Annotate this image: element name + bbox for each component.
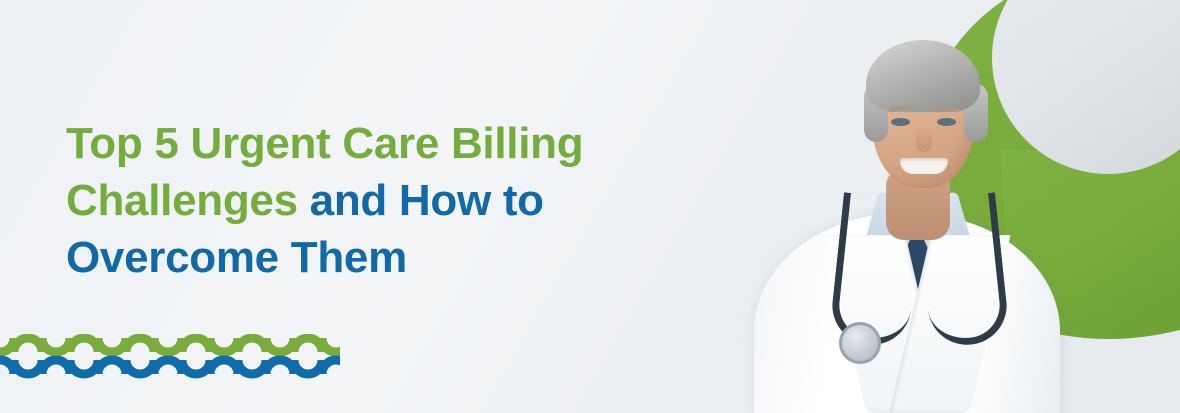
scallop-arc-pattern — [0, 334, 340, 380]
page-title: Top 5 Urgent Care Billing Challenges and… — [66, 115, 706, 286]
arc-pattern-row-green — [0, 338, 340, 352]
stethoscope-chestpiece — [839, 322, 881, 364]
eye-left — [891, 118, 910, 126]
arc-pattern-row-blue — [0, 360, 340, 374]
headline-line-2-blue: and How to — [298, 176, 544, 225]
nose — [916, 126, 932, 152]
article-hero-banner: Top 5 Urgent Care Billing Challenges and… — [0, 0, 1180, 413]
headline-line-2-green: Challenges — [66, 176, 298, 225]
headline-line-3: Overcome Them — [66, 233, 407, 282]
eye-right — [937, 118, 956, 126]
hair — [866, 40, 980, 112]
headline-line-1: Top 5 Urgent Care Billing — [66, 119, 583, 168]
smile — [900, 158, 948, 174]
doctor-photo — [742, 0, 1072, 413]
